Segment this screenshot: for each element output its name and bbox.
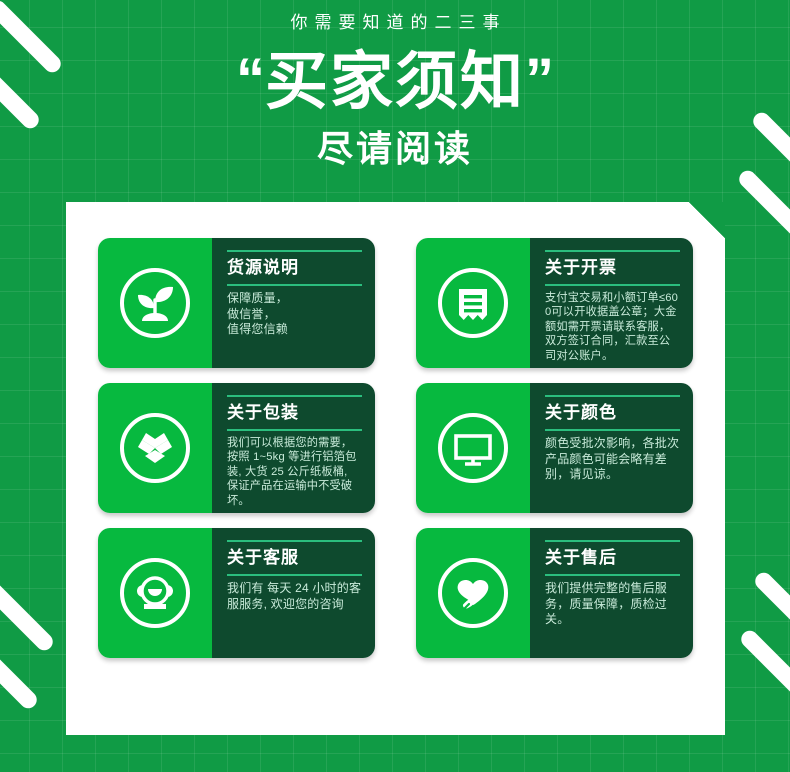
card-title: 关于开票	[545, 250, 680, 286]
card-text: 颜色受批次影响，各批次产品颜色可能会略有差别，请见谅。	[545, 436, 680, 483]
card-body: 关于客服 我们有 每天 24 小时的客服服务, 欢迎您的咨询	[212, 528, 375, 658]
close-quote-glyph: ”	[525, 47, 554, 112]
card-body: 关于颜色 颜色受批次影响，各批次产品颜色可能会略有差别，请见谅。	[530, 383, 693, 513]
info-card-huo-yuan-shuo-ming[interactable]: 货源说明 保障质量， 做信誉， 值得您信赖	[98, 238, 375, 368]
card-icon-panel	[416, 383, 530, 513]
card-title: 关于包装	[227, 395, 362, 431]
card-icon-panel	[98, 528, 212, 658]
handshake-icon	[434, 554, 512, 632]
card-icon-panel	[416, 238, 530, 368]
card-icon-panel	[98, 383, 212, 513]
card-body: 关于售后 我们提供完整的售后服务，质量保障，质检过关。	[530, 528, 693, 658]
card-title: 货源说明	[227, 250, 362, 286]
page-header: 你需要知道的二三事 “买家须知” 尽请阅读	[0, 0, 790, 200]
info-card-guan-yu-bao-zhuang[interactable]: 关于包装 我们可以根据您的需要，按照 1~5kg 等进行铝箔包装, 大货 25 …	[98, 383, 375, 513]
card-body: 货源说明 保障质量， 做信誉， 值得您信赖	[212, 238, 375, 368]
info-card-grid: 货源说明 保障质量， 做信誉， 值得您信赖 关于开票	[98, 238, 693, 658]
page-title-text: 买家须知	[265, 47, 525, 117]
card-icon-panel	[416, 528, 530, 658]
info-card-guan-yu-kai-piao[interactable]: 关于开票 支付宝交易和小额订单≤600可以开收据盖公章；大金额如需开票请联系客服…	[416, 238, 693, 368]
card-body: 关于包装 我们可以根据您的需要，按照 1~5kg 等进行铝箔包装, 大货 25 …	[212, 383, 375, 513]
card-icon-panel	[98, 238, 212, 368]
invoice-icon	[434, 264, 512, 342]
info-card-guan-yu-yan-se[interactable]: 关于颜色 颜色受批次影响，各批次产品颜色可能会略有差别，请见谅。	[416, 383, 693, 513]
card-body: 关于开票 支付宝交易和小额订单≤600可以开收据盖公章；大金额如需开票请联系客服…	[530, 238, 693, 368]
card-text: 我们提供完整的售后服务，质量保障，质检过关。	[545, 581, 680, 628]
content-panel: 货源说明 保障质量， 做信誉， 值得您信赖 关于开票	[66, 202, 725, 735]
card-title: 关于颜色	[545, 395, 680, 431]
page-title: “买家须知”	[0, 51, 790, 114]
panel-folded-corner	[689, 202, 725, 238]
card-title: 关于客服	[227, 540, 362, 576]
card-title: 关于售后	[545, 540, 680, 576]
card-text: 保障质量， 做信誉， 值得您信赖	[227, 291, 362, 338]
info-card-guan-yu-shou-hou[interactable]: 关于售后 我们提供完整的售后服务，质量保障，质检过关。	[416, 528, 693, 658]
card-text: 我们有 每天 24 小时的客服服务, 欢迎您的咨询	[227, 581, 362, 613]
sprout-icon	[116, 264, 194, 342]
page-subtitle: 尽请阅读	[0, 131, 790, 167]
header-kicker: 你需要知道的二三事	[0, 0, 790, 31]
card-text: 我们可以根据您的需要，按照 1~5kg 等进行铝箔包装, 大货 25 公斤纸板桶…	[227, 436, 362, 509]
headset-support-icon	[116, 554, 194, 632]
info-card-guan-yu-ke-fu[interactable]: 关于客服 我们有 每天 24 小时的客服服务, 欢迎您的咨询	[98, 528, 375, 658]
card-text: 支付宝交易和小额订单≤600可以开收据盖公章；大金额如需开票请联系客服，双方签订…	[545, 291, 680, 364]
monitor-icon	[434, 409, 512, 487]
open-box-icon	[116, 409, 194, 487]
open-quote-glyph: “	[236, 47, 265, 112]
